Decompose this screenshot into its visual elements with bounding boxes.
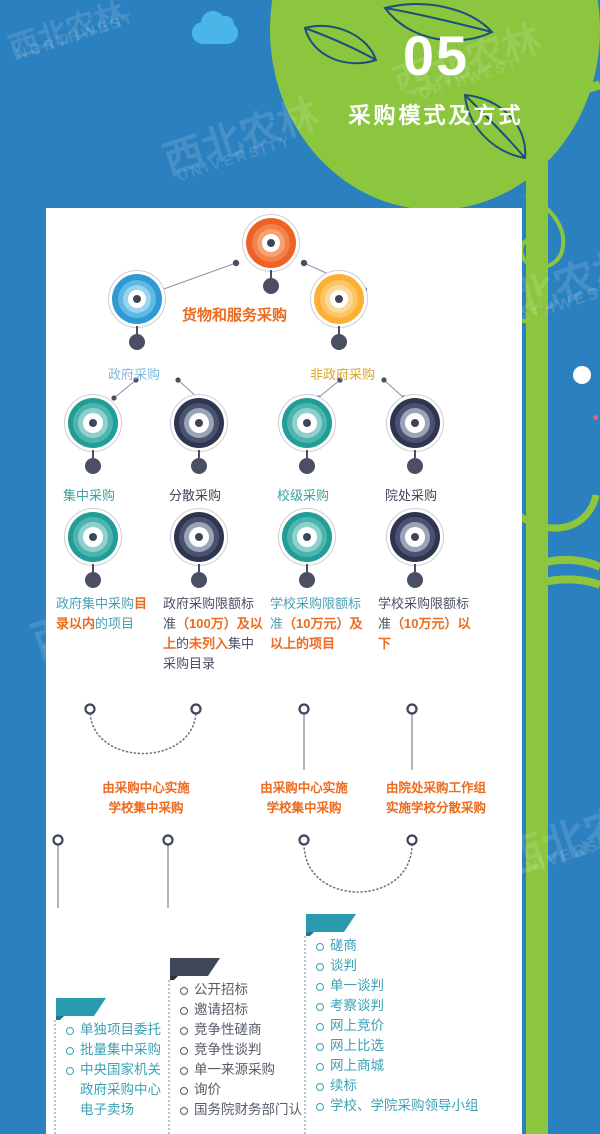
action-label-3-line1: 由院处采购工作组 [364, 778, 508, 798]
action-label-1-line2: 学校集中采购 [76, 798, 216, 818]
list-item[interactable]: 续标 [316, 1076, 479, 1096]
tier2-pin-line-4 [414, 450, 416, 458]
section-header: 05 采购模式及方式 [286, 28, 586, 130]
list-item[interactable]: 磋商 [316, 936, 479, 956]
list-item[interactable]: 单一来源采购 [180, 1060, 302, 1080]
node-non-government[interactable] [310, 270, 368, 328]
node-root[interactable] [242, 214, 300, 272]
tier2-label-3: 校级采购 [277, 485, 329, 504]
node-tier3-1[interactable] [64, 508, 122, 566]
tier2-pin-2 [191, 458, 207, 474]
list-item[interactable]: 邀请招标 [180, 1000, 302, 1020]
tier2-pin-line-3 [306, 450, 308, 458]
tier2-pin-line-2 [198, 450, 200, 458]
list-item[interactable]: 竞争性磋商 [180, 1020, 302, 1040]
section-title: 采购模式及方式 [286, 98, 586, 130]
node-department-procurement[interactable] [386, 394, 444, 452]
tier3-pin-line-1 [92, 564, 94, 572]
tier2-label-2: 分散采购 [169, 485, 221, 504]
tier3-text-4-part-2: （10万元）以下 [378, 616, 470, 651]
list-item[interactable]: 公开招标 [180, 980, 302, 1000]
tier3-pin-2 [191, 572, 207, 588]
ribbon-flag-icon-1 [56, 998, 106, 1020]
government-label: 政府采购 [108, 364, 160, 383]
action-label-3: 由院处采购工作组 实施学校分散采购 [364, 778, 508, 818]
list-item[interactable]: 谈判 [316, 956, 479, 976]
list-3-items: 磋商 谈判 单一谈判 考察谈判 网上竞价 网上比选 网上商城 续标 学校、学院采… [316, 936, 479, 1116]
node-tier3-2[interactable] [170, 508, 228, 566]
list-item[interactable]: 国务院财务部门认 [180, 1100, 302, 1120]
action-label-2-line1: 由采购中心实施 [242, 778, 366, 798]
list-box-3: 磋商 谈判 单一谈判 考察谈判 网上竞价 网上比选 网上商城 续标 学校、学院采… [304, 936, 479, 1134]
tier3-text-2-part-3: 的 [176, 636, 189, 651]
node-school-level-procurement[interactable] [278, 394, 336, 452]
tier3-pin-4 [407, 572, 423, 588]
list-item[interactable]: 政府采购中心 [66, 1080, 161, 1100]
tier3-text-2: 政府采购限额标准（100万）及以上的未列入集中采购目录 [163, 594, 265, 674]
list-item[interactable]: 批量集中采购 [66, 1040, 161, 1060]
list-item[interactable]: 学校、学院采购领导小组 [316, 1096, 479, 1116]
tier3-text-4: 学校采购限额标准（10万元）以下 [378, 594, 480, 654]
list-item[interactable]: 网上商城 [316, 1056, 479, 1076]
node-tier3-3[interactable] [278, 508, 336, 566]
non-government-pin [331, 334, 347, 350]
root-label: 货物和服务采购 [182, 304, 287, 325]
watermark-en-4: UNIVERSITY [510, 826, 600, 882]
list-1-items: 单独项目委托 批量集中采购 中央国家机关 政府采购中心 电子卖场 [66, 1020, 161, 1120]
action-label-3-line2: 实施学校分散采购 [364, 798, 508, 818]
tier3-pin-line-4 [414, 564, 416, 572]
tier3-text-2-part-4: 未列入 [189, 636, 228, 651]
tier3-pin-1 [85, 572, 101, 588]
tier3-pin-line-2 [198, 564, 200, 572]
tier2-pin-3 [299, 458, 315, 474]
tier2-label-4: 院处采购 [385, 485, 437, 504]
list-item[interactable]: 单一谈判 [316, 976, 479, 996]
ribbon-flag-icon-3 [306, 914, 356, 936]
section-number: 05 [286, 28, 586, 84]
watermark-cn-1: 西北农林 [2, 0, 130, 67]
non-government-label: 非政府采购 [310, 364, 375, 383]
tier2-pin-1 [85, 458, 101, 474]
list-item[interactable]: 竞争性谈判 [180, 1040, 302, 1060]
root-pin [263, 278, 279, 294]
node-tier3-4[interactable] [386, 508, 444, 566]
tier3-text-1-part-3: 的项目 [95, 616, 134, 631]
tier3-text-1-part-1: 政府集中采购 [56, 596, 134, 611]
list-2-items: 公开招标 邀请招标 竞争性磋商 竞争性谈判 单一来源采购 询价 国务院财务部门认 [180, 980, 302, 1120]
tier2-pin-line-1 [92, 450, 94, 458]
node-decentralized-procurement[interactable] [170, 394, 228, 452]
action-label-1-line1: 由采购中心实施 [76, 778, 216, 798]
action-label-2: 由采购中心实施 学校集中采购 [242, 778, 366, 818]
action-label-1: 由采购中心实施 学校集中采购 [76, 778, 216, 818]
list-item[interactable]: 考察谈判 [316, 996, 479, 1016]
list-box-1: 单独项目委托 批量集中采购 中央国家机关 政府采购中心 电子卖场 [54, 1020, 161, 1134]
watermark-en-1: NORTHWEST [14, 9, 137, 63]
list-item[interactable]: 中央国家机关 [66, 1060, 161, 1080]
list-item[interactable]: 网上竞价 [316, 1016, 479, 1036]
list-box-2: 公开招标 邀请招标 竞争性磋商 竞争性谈判 单一来源采购 询价 国务院财务部门认 [168, 980, 302, 1134]
tier3-text-3-part-2: （10万元）及以上的项目 [270, 616, 362, 651]
node-government[interactable] [108, 270, 166, 328]
diagram-card: 货物和服务采购 政府采购 非政府采购 集中采购 [46, 208, 522, 1134]
list-item[interactable]: 询价 [180, 1080, 302, 1100]
tier3-pin-line-3 [306, 564, 308, 572]
ribbon-flag-icon-2 [170, 958, 220, 980]
tier3-text-1: 政府集中采购目录以内的项目 [56, 594, 158, 634]
list-item[interactable]: 网上比选 [316, 1036, 479, 1056]
list-item[interactable]: 单独项目委托 [66, 1020, 161, 1040]
tier3-text-3: 学校采购限额标准（10万元）及以上的项目 [270, 594, 372, 654]
action-label-2-line2: 学校集中采购 [242, 798, 366, 818]
government-pin [129, 334, 145, 350]
list-item[interactable]: 电子卖场 [66, 1100, 161, 1120]
tier2-label-1: 集中采购 [63, 485, 115, 504]
tier2-pin-4 [407, 458, 423, 474]
tier3-pin-3 [299, 572, 315, 588]
node-centralized-procurement[interactable] [64, 394, 122, 452]
